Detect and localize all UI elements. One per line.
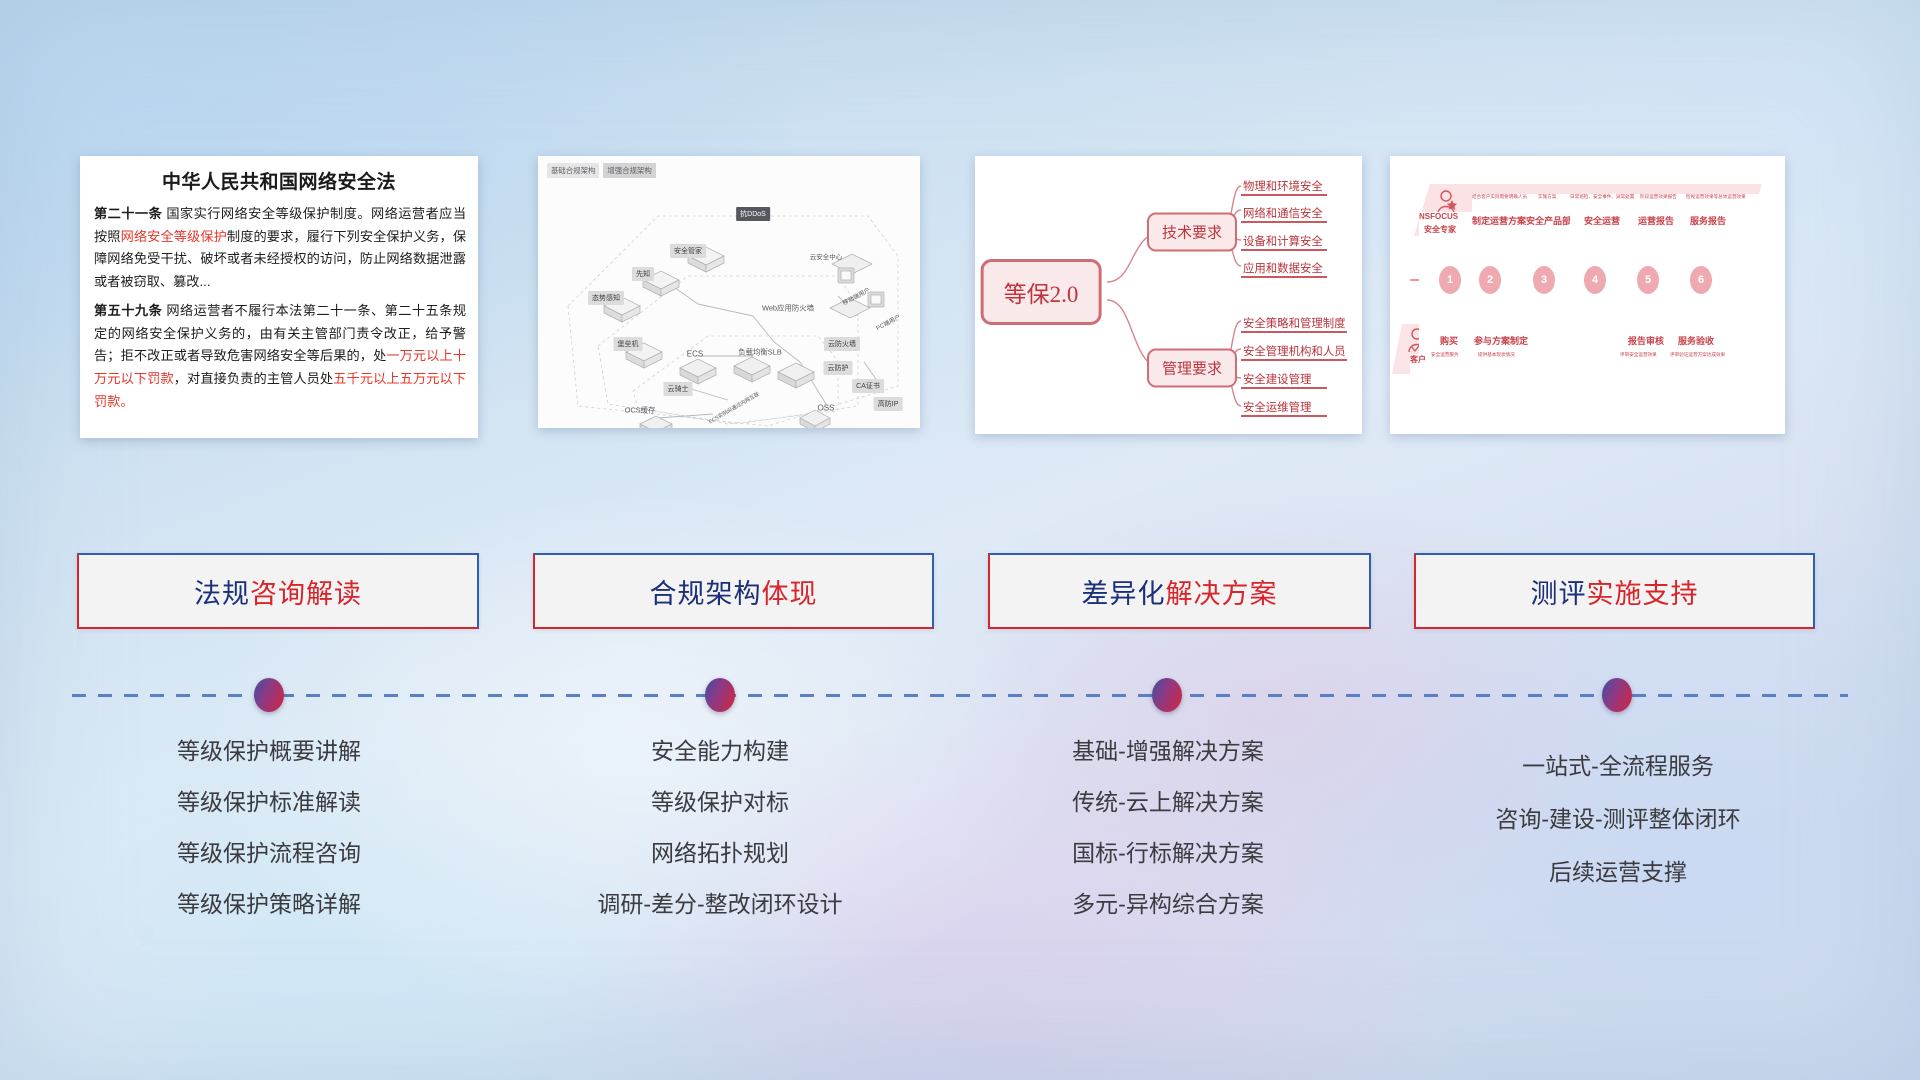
arch-node-waf: Web应用防火墙 [758, 301, 818, 316]
banner-text-blue: 合规架构 [650, 572, 762, 611]
list-item: 后续运营支撑 [1418, 861, 1818, 884]
arch-node-cloud-security-center: 云安全中心 [806, 249, 847, 263]
law-body: 第二十一条 国家实行网络安全等级保护制度。网络运营者应当按照网络安全等级保护制度… [80, 203, 478, 421]
timeline-dashed-line [72, 694, 1848, 697]
banner-text-red: 解决方案 [1166, 572, 1278, 611]
banner-text-blue: 测评 [1531, 572, 1587, 611]
bullet-column-4: 一站式-全流程服务 咨询-建设-测评整体闭环 后续运营支撑 [1418, 755, 1818, 912]
list-item: 等级保护流程咨询 [69, 842, 469, 865]
arch-node-yunqishi: 云骑士 [664, 382, 693, 396]
mindmap-leaf: 安全管理机构和人员 [1243, 343, 1346, 359]
mindmap-root-node: 等保2.0 [981, 259, 1102, 325]
roadmap-step-4: 4 [1584, 266, 1606, 294]
arch-node-bastion-host: 堡垒机 [614, 337, 643, 351]
banner-compliance-architecture[interactable]: 合规架构体现 [533, 553, 934, 629]
mindmap-leaf: 网络和通信安全 [1243, 205, 1323, 221]
cards-row: 中华人民共和国网络安全法 第二十一条 国家实行网络安全等级保护制度。网络运营者应… [0, 0, 1920, 460]
list-item: 等级保护概要讲解 [69, 740, 469, 763]
roadmap-step-3: 3 [1533, 266, 1555, 294]
law-run: ，对直接负责的主管人员处 [174, 371, 333, 386]
timeline-dot-3 [1152, 678, 1182, 712]
arch-node-xianzhi: 先知 [632, 267, 654, 281]
law-article-label: 第二十一条 [94, 206, 162, 221]
banner-text-red: 实施支持 [1587, 572, 1699, 611]
list-item: 咨询-建设-测评整体闭环 [1418, 808, 1818, 831]
arch-node-anti-ddos-ip: 高防IP [874, 397, 903, 411]
arch-node-cloud-protection: 云防护 [824, 361, 853, 375]
mindmap-leaf: 应用和数据安全 [1243, 260, 1323, 276]
roadmap-step-6: 6 [1690, 266, 1712, 294]
roadmap-step-1: 1 [1439, 266, 1461, 294]
timeline-dot-1 [254, 678, 284, 712]
mindmap-leaf: 设备和计算安全 [1243, 233, 1323, 249]
law-paragraph: 第五十九条 网络运营者不履行本法第二十一条、第二十五条规定的网络安全保护义务的，… [94, 300, 466, 414]
arch-node-cloud-firewall: 云防火墙 [824, 337, 860, 351]
list-item: 调研-差分-整改闭环设计 [520, 893, 920, 916]
mindmap-diagram: 等保2.0 技术要求 管理要求 物理和环境安全 网络和通信安全 设备和计算安全 … [975, 156, 1362, 434]
list-item: 安全能力构建 [520, 740, 920, 763]
architecture-diagram: 基础合规架构增强合规架构 [538, 156, 920, 428]
banner-text-red: 咨询解读 [250, 572, 362, 611]
card-mindmap-dengbao[interactable]: 等保2.0 技术要求 管理要求 物理和环境安全 网络和通信安全 设备和计算安全 … [975, 156, 1362, 434]
banner-regulation-consulting[interactable]: 法规咨询解读 [77, 553, 479, 629]
bullet-column-3: 基础-增强解决方案 传统-云上解决方案 国标-行标解决方案 多元-异构综合方案 [968, 740, 1368, 944]
arch-node-ocs-cache: OCS缓存 [621, 403, 660, 418]
card-service-roadmap[interactable]: NSFOCUS 安全专家 客户 结合客户实际需要明确人员 制定运营方案 实施方案… [1390, 156, 1785, 434]
list-item: 一站式-全流程服务 [1418, 755, 1818, 778]
law-run-highlight: 网络安全等级保护 [121, 229, 227, 244]
law-paragraph: 第二十一条 国家实行网络安全等级保护制度。网络运营者应当按照网络安全等级保护制度… [94, 203, 466, 294]
list-item: 网络拓扑规划 [520, 842, 920, 865]
list-item: 国标-行标解决方案 [968, 842, 1368, 865]
mindmap-leaf: 物理和环境安全 [1243, 178, 1323, 194]
law-title: 中华人民共和国网络安全法 [80, 167, 478, 194]
arch-node-ecs: ECS [683, 348, 707, 361]
banner-text-red: 体现 [762, 572, 818, 611]
arch-node-anti-ddos: 抗DDoS [736, 207, 770, 221]
banner-evaluation-support[interactable]: 测评实施支持 [1414, 553, 1815, 629]
list-item: 传统-云上解决方案 [968, 791, 1368, 814]
mindmap-branch-management: 管理要求 [1147, 349, 1237, 388]
arch-node-security-butler: 安全管家 [670, 244, 706, 258]
banner-text-blue: 差异化 [1082, 572, 1166, 611]
roadmap-bottom-sub: 评审验证运营方案达成效果 [1670, 352, 1785, 434]
mindmap-leaf: 安全运维管理 [1243, 399, 1311, 415]
list-item: 等级保护策略详解 [69, 893, 469, 916]
list-item: 多元-异构综合方案 [968, 893, 1368, 916]
roadmap-diagram: NSFOCUS 安全专家 客户 结合客户实际需要明确人员 制定运营方案 实施方案… [1390, 156, 1785, 434]
bullet-column-2: 安全能力构建 等级保护对标 网络拓扑规划 调研-差分-整改闭环设计 [520, 740, 920, 944]
banner-text-blue: 法规 [194, 572, 250, 611]
law-article-label: 第五十九条 [94, 303, 162, 318]
card-cybersecurity-law[interactable]: 中华人民共和国网络安全法 第二十一条 国家实行网络安全等级保护制度。网络运营者应… [80, 156, 478, 438]
mindmap-branch-technical: 技术要求 [1147, 213, 1237, 252]
mindmap-leaf: 安全建设管理 [1243, 371, 1311, 387]
list-item: 基础-增强解决方案 [968, 740, 1368, 763]
card-compliance-architecture[interactable]: 基础合规架构增强合规架构 [538, 156, 920, 428]
bullet-column-1: 等级保护概要讲解 等级保护标准解读 等级保护流程咨询 等级保护策略详解 [69, 740, 469, 944]
roadmap-step-5: 5 [1637, 266, 1659, 294]
roadmap-step-2: 2 [1479, 266, 1501, 294]
banner-differentiated-solution[interactable]: 差异化解决方案 [988, 553, 1371, 629]
arch-node-slb: 负载均衡SLB [734, 345, 786, 360]
mindmap-leaf: 安全策略和管理制度 [1243, 315, 1346, 331]
timeline-dot-4 [1602, 678, 1632, 712]
list-item: 等级保护标准解读 [69, 791, 469, 814]
arch-node-ca-certificate: CA证书 [852, 379, 884, 393]
arch-node-situational-awareness: 态势感知 [588, 291, 624, 305]
arch-node-oss: OSS [814, 402, 839, 415]
list-item: 等级保护对标 [520, 791, 920, 814]
timeline-dot-2 [705, 678, 735, 712]
